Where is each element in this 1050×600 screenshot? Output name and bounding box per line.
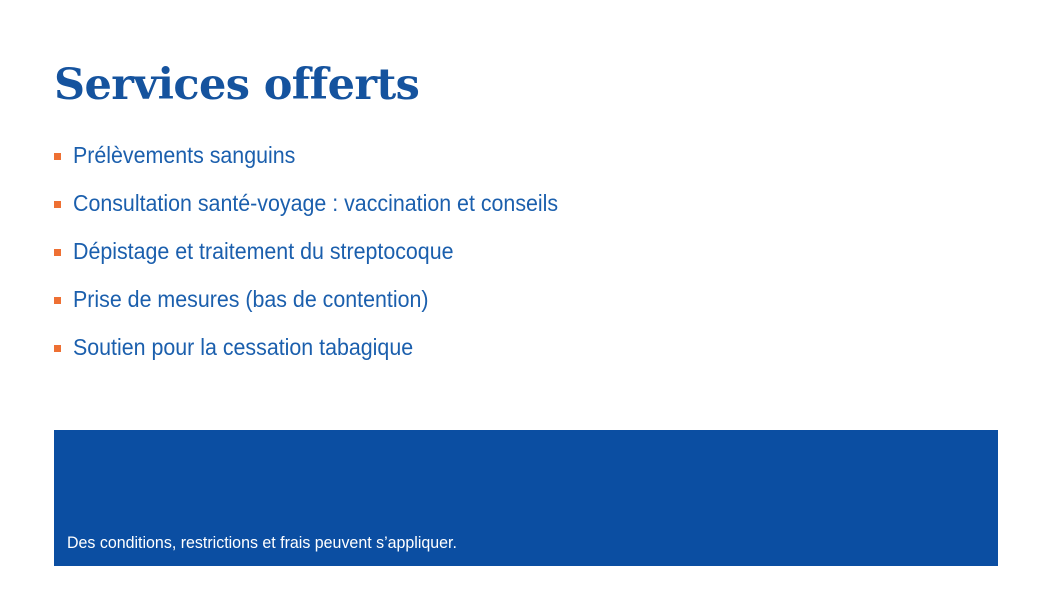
list-item: Soutien pour la cessation tabagique [54,332,954,380]
footer-band: Des conditions, restrictions et frais pe… [54,430,998,566]
page-title: Services offerts [54,58,419,112]
square-bullet-icon [54,201,61,208]
list-item-label: Consultation santé-voyage : vaccination … [73,188,892,218]
square-bullet-icon [54,297,61,304]
square-bullet-icon [54,153,61,160]
list-item-label: Dépistage et traitement du streptocoque [73,236,892,266]
list-item: Prise de mesures (bas de contention) [54,284,954,332]
services-bullet-list: Prélèvements sanguins Consultation santé… [54,140,954,380]
square-bullet-icon [54,345,61,352]
list-item-label: Soutien pour la cessation tabagique [73,332,892,362]
list-item: Consultation santé-voyage : vaccination … [54,188,954,236]
slide-canvas: Services offerts Prélèvements sanguins C… [0,0,1050,600]
footer-disclaimer-text: Des conditions, restrictions et frais pe… [67,532,457,554]
list-item-label: Prélèvements sanguins [73,140,892,170]
list-item-label: Prise de mesures (bas de contention) [73,284,892,314]
list-item: Prélèvements sanguins [54,140,954,188]
square-bullet-icon [54,249,61,256]
list-item: Dépistage et traitement du streptocoque [54,236,954,284]
